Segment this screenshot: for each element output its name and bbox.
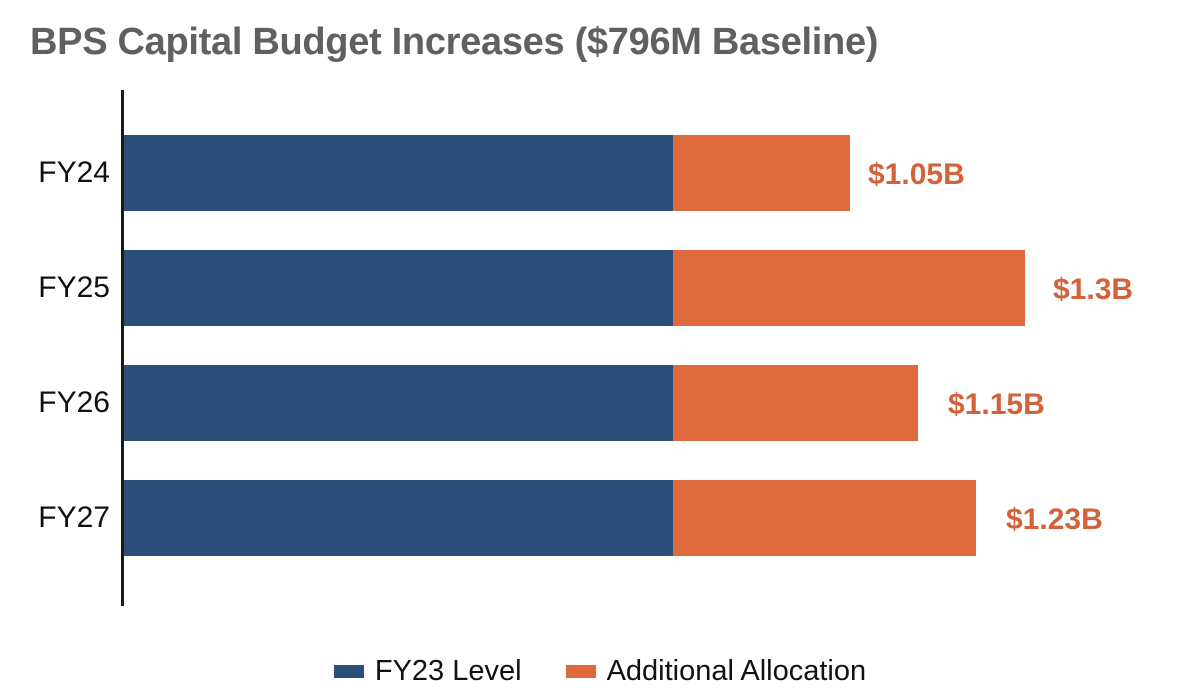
- legend-item-fy23-level[interactable]: FY23 Level: [334, 654, 522, 688]
- category-label-fy27: FY27: [14, 501, 110, 535]
- bar-value-label-fy26: $1.15B: [948, 388, 1045, 422]
- bar-segment-base-fy27: [124, 480, 673, 556]
- bar-fy27[interactable]: [124, 480, 976, 556]
- bar-segment-base-fy24: [124, 135, 673, 211]
- chart-legend: FY23 Level Additional Allocation: [0, 654, 1200, 694]
- legend-swatch-icon-fy23-level: [334, 665, 364, 678]
- category-label-fy26: FY26: [14, 386, 110, 420]
- bar-segment-extra-fy25: [673, 250, 1025, 326]
- bar-fy24[interactable]: [124, 135, 850, 211]
- bar-segment-extra-fy24: [673, 135, 850, 211]
- legend-label-fy23-level: FY23 Level: [375, 654, 522, 688]
- chart-container: BPS Capital Budget Increases ($796M Base…: [0, 0, 1200, 675]
- bar-segment-extra-fy26: [673, 365, 918, 441]
- bar-segment-base-fy26: [124, 365, 673, 441]
- bar-fy25[interactable]: [124, 250, 1025, 326]
- bar-value-label-fy24: $1.05B: [868, 158, 965, 192]
- bar-fy26[interactable]: [124, 365, 918, 441]
- category-label-fy24: FY24: [14, 156, 110, 190]
- bar-value-label-fy27: $1.23B: [1006, 503, 1103, 537]
- plot-area: FY24 $1.05B FY25 $1.3B FY26 $1.15B FY27 …: [0, 0, 1200, 675]
- legend-label-additional-allocation: Additional Allocation: [607, 654, 867, 688]
- legend-item-additional-allocation[interactable]: Additional Allocation: [566, 654, 867, 688]
- category-label-fy25: FY25: [14, 271, 110, 305]
- bar-value-label-fy25: $1.3B: [1053, 273, 1133, 307]
- bar-segment-extra-fy27: [673, 480, 976, 556]
- bar-segment-base-fy25: [124, 250, 673, 326]
- legend-swatch-icon-additional-allocation: [566, 665, 596, 678]
